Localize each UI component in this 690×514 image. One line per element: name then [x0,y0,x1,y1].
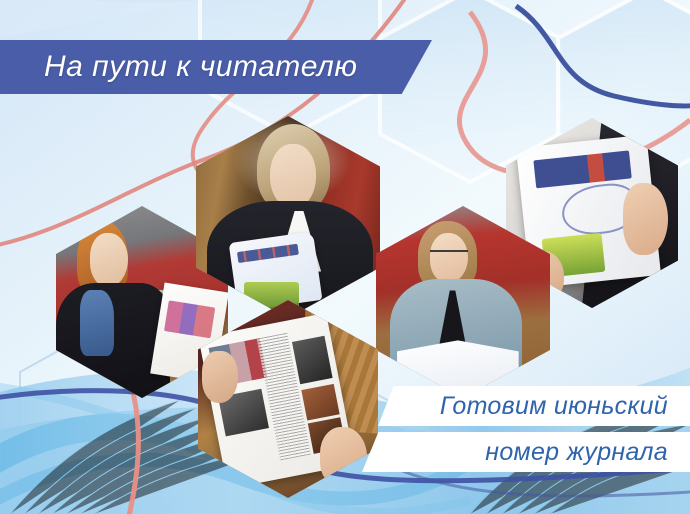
caption-line2-text: номер журнала [485,438,668,467]
photo-topright-right-hand [623,183,668,255]
photo-bottom-left-hand [202,351,238,402]
photo-left-face [90,233,128,287]
photo-center-face [270,144,316,209]
poster-canvas: На пути к читателю Готовим июньский номе… [0,0,690,514]
title-banner: На пути к читателю [0,40,432,94]
caption-band-line1: Готовим июньский [378,386,690,426]
caption-line1-text: Готовим июньский [440,392,668,421]
spread-photo-mid-right [301,384,340,421]
photo-left-scarf [80,290,114,355]
spread-photo-top-right [292,335,333,384]
poster-title: На пути к читателю [44,50,357,84]
magazine-title-block [533,150,632,188]
caption-band-line2: номер журнала [362,432,690,472]
photo-right-glasses [430,250,468,264]
